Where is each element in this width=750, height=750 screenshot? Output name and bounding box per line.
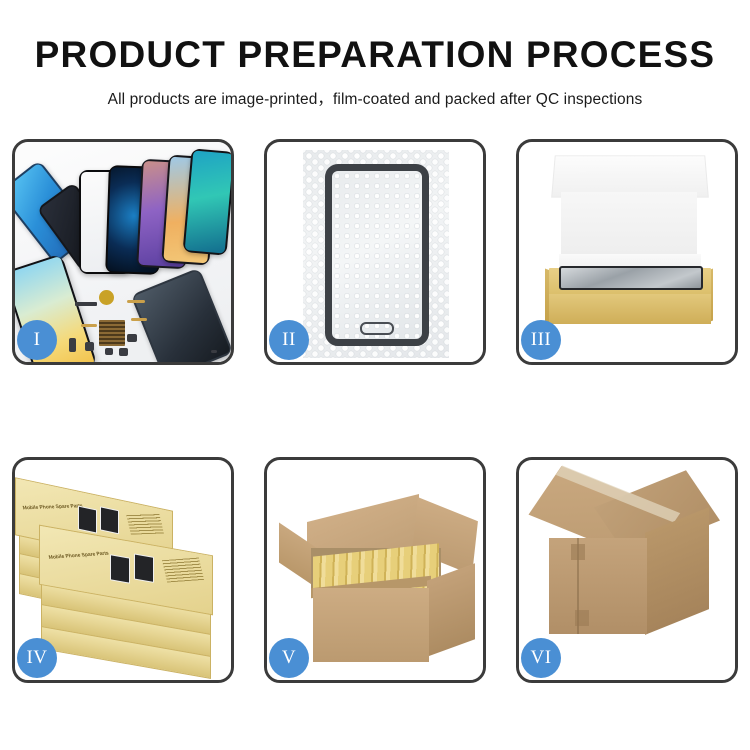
page-subtitle: All products are image-printed，film-coat… xyxy=(0,87,750,109)
part-coil-icon xyxy=(99,290,114,305)
step-badge-3: III xyxy=(521,320,561,360)
poster-root: PRODUCT PREPARATION PROCESS All products… xyxy=(0,0,750,750)
part-flex-1-icon xyxy=(127,300,145,303)
step-badge-6: VI xyxy=(521,638,561,678)
carton-side-icon xyxy=(427,563,475,656)
carton-front-icon xyxy=(313,588,429,662)
step-panel-5[interactable]: V xyxy=(264,457,486,683)
box-thumb-icon xyxy=(134,553,154,583)
step-panel-6[interactable]: VI xyxy=(516,457,738,683)
phone-backplate-icon xyxy=(130,267,231,362)
phone-teal-icon xyxy=(183,148,231,255)
process-row-1: I II xyxy=(12,139,738,365)
step-badge-2: II xyxy=(269,320,309,360)
page-title: PRODUCT PREPARATION PROCESS xyxy=(0,36,750,73)
wrapped-screen-icon xyxy=(325,164,429,346)
box-front-icon xyxy=(549,294,711,324)
process-row-2: Mobile Phone Spare Parts Mobile Phone Sp… xyxy=(12,457,738,683)
part-battery-icon xyxy=(69,338,76,352)
part-flex-2-icon xyxy=(131,318,147,321)
carton-handle-tab-icon xyxy=(571,544,585,560)
sealed-carton-front-icon xyxy=(549,538,647,634)
part-bar-icon xyxy=(75,302,97,306)
part-camera-icon xyxy=(127,334,137,342)
part-screw-icon xyxy=(211,350,217,353)
process-grid: I II xyxy=(12,139,738,683)
part-chip-icon xyxy=(99,320,125,346)
part-button-icon xyxy=(105,348,113,355)
part-connector-icon xyxy=(119,348,128,356)
box-spec-lines xyxy=(162,558,204,583)
step-panel-4[interactable]: Mobile Phone Spare Parts Mobile Phone Sp… xyxy=(12,457,234,683)
step-panel-1[interactable]: I xyxy=(12,139,234,365)
step-badge-5: V xyxy=(269,638,309,678)
carton-handle-tab-icon xyxy=(575,610,589,626)
packed-screen-icon xyxy=(559,266,703,290)
box-thumb-icon xyxy=(110,554,130,584)
part-flex-3-icon xyxy=(81,324,97,327)
step-panel-3[interactable]: III xyxy=(516,139,738,365)
box-thumb-icon xyxy=(78,506,97,534)
step-badge-1: I xyxy=(17,320,57,360)
part-speaker-icon xyxy=(85,342,94,351)
poster-header: PRODUCT PREPARATION PROCESS All products… xyxy=(0,0,750,109)
box-thumb-icon xyxy=(100,506,119,534)
step-badge-4: IV xyxy=(17,638,57,678)
step-panel-2[interactable]: II xyxy=(264,139,486,365)
box-spec-lines xyxy=(126,513,164,535)
